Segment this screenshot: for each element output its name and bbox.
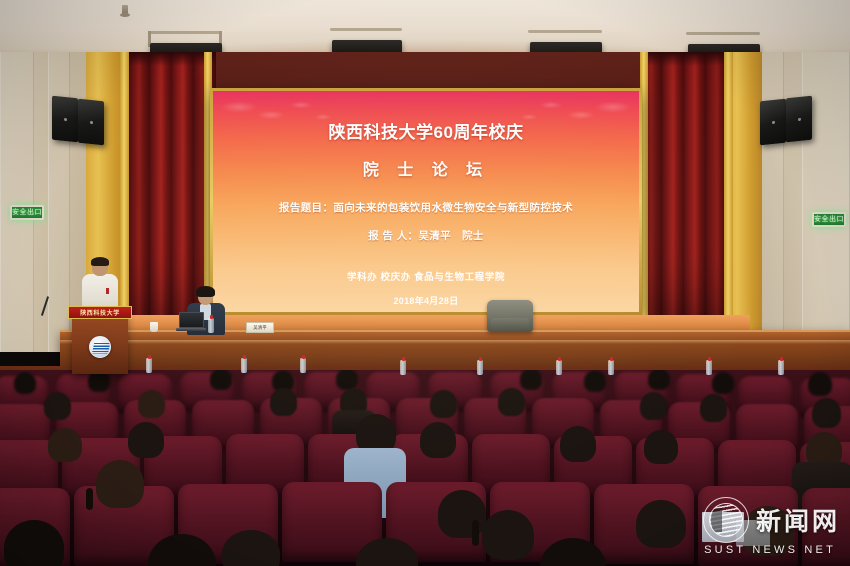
exit-sign-right: 安全出口 xyxy=(812,212,846,227)
audience-head xyxy=(712,372,734,394)
slide-organizers: 学科办 校庆办 食品与生物工程学院 xyxy=(213,269,639,283)
watermark-english: SUST NEWS NET xyxy=(704,544,836,556)
light-truss-bar-mid xyxy=(330,28,402,31)
slide-title: 陕西科技大学60周年校庆 xyxy=(213,118,639,143)
auditorium-photo: 安全出口 安全出口 陕西科技大学60周年校庆 院 士 论 坛 报告题目：面向未来… xyxy=(0,0,850,566)
name-card-label: 吴清平 xyxy=(253,325,267,331)
slide-date: 2018年4月28日 xyxy=(213,294,639,307)
audience-head xyxy=(420,422,456,458)
audience-head xyxy=(636,500,686,548)
light-truss-bar-right xyxy=(528,30,602,33)
podium: 陕西科技大学 xyxy=(72,312,128,374)
projection-screen: 陕西科技大学60周年校庆 院 士 论 坛 报告题目：面向未来的包装饮用水微生物安… xyxy=(213,91,639,312)
audience-head xyxy=(584,370,606,392)
audience-head xyxy=(520,370,542,390)
audience-head xyxy=(700,394,727,422)
audience-head xyxy=(640,392,667,420)
audience-head xyxy=(270,388,297,416)
audience-head xyxy=(138,390,165,418)
wall-speaker-icon xyxy=(786,96,812,143)
water-bottle-icon xyxy=(477,360,483,375)
name-card: 吴清平 xyxy=(246,322,274,333)
water-bottle-icon xyxy=(300,358,306,373)
audience-head xyxy=(808,372,832,396)
light-truss-bar-left xyxy=(148,31,222,34)
audience-ponytail xyxy=(86,488,93,510)
audience-head xyxy=(498,388,525,416)
audience-head xyxy=(430,390,457,418)
audience-head xyxy=(128,422,164,458)
audience-head xyxy=(560,426,596,462)
audience-head xyxy=(648,370,670,390)
exit-sign-left: 安全出口 xyxy=(10,205,44,220)
projection-screen-frame: 陕西科技大学60周年校庆 院 士 论 坛 报告题目：面向未来的包装饮用水微生物安… xyxy=(210,88,642,315)
audience-head xyxy=(14,372,36,394)
university-emblem xyxy=(89,336,111,358)
water-bottle-icon xyxy=(146,358,152,373)
audience-head xyxy=(812,398,841,428)
audience-head xyxy=(644,430,678,464)
podium-banner-label: 陕西科技大学 xyxy=(80,308,120,317)
wall-panel xyxy=(0,52,34,352)
light-truss-bar-far-right xyxy=(686,32,760,35)
water-bottle-icon xyxy=(778,360,784,375)
audience-head xyxy=(336,370,358,390)
podium-banner: 陕西科技大学 xyxy=(68,306,132,319)
paper-cup-icon xyxy=(150,322,158,332)
slide-topic: 报告题目：面向未来的包装饮用水微生物安全与新型防控技术 xyxy=(213,200,639,215)
exit-sign-left-label: 安全出口 xyxy=(12,209,42,216)
water-bottle-icon xyxy=(400,360,406,375)
audience-ponytail xyxy=(472,520,479,546)
audience-head xyxy=(210,370,232,390)
wall-speaker-icon xyxy=(760,99,786,146)
watermark: 新闻网 SUST NEWS NET xyxy=(703,497,840,556)
wall-speaker-icon xyxy=(78,99,104,146)
stage-curtain-right xyxy=(640,52,726,348)
gold-trim xyxy=(724,52,733,352)
audience-head xyxy=(96,460,144,508)
exit-sign-right-label: 安全出口 xyxy=(814,216,844,223)
water-bottle-icon xyxy=(208,318,214,333)
slide-subtitle: 院 士 论 坛 xyxy=(213,156,639,180)
sust-news-logo xyxy=(703,497,749,543)
laptop-icon xyxy=(176,312,206,332)
slide-content: 陕西科技大学60周年校庆 院 士 论 坛 报告题目：面向未来的包装饮用水微生物安… xyxy=(213,118,639,307)
water-bottle-icon xyxy=(241,358,247,373)
empty-chair xyxy=(487,300,533,332)
audience-head xyxy=(482,510,534,560)
water-bottle-icon xyxy=(608,360,614,375)
water-bottle-icon xyxy=(556,360,562,375)
slide-speaker: 报 告 人：吴清平 院士 xyxy=(213,228,639,243)
sprinkler-icon xyxy=(122,5,128,15)
water-bottle-icon xyxy=(706,360,712,375)
watermark-chinese: 新闻网 xyxy=(756,502,840,538)
audience-head xyxy=(44,392,71,420)
audience-head xyxy=(48,428,82,462)
wall-speaker-icon xyxy=(52,96,78,143)
